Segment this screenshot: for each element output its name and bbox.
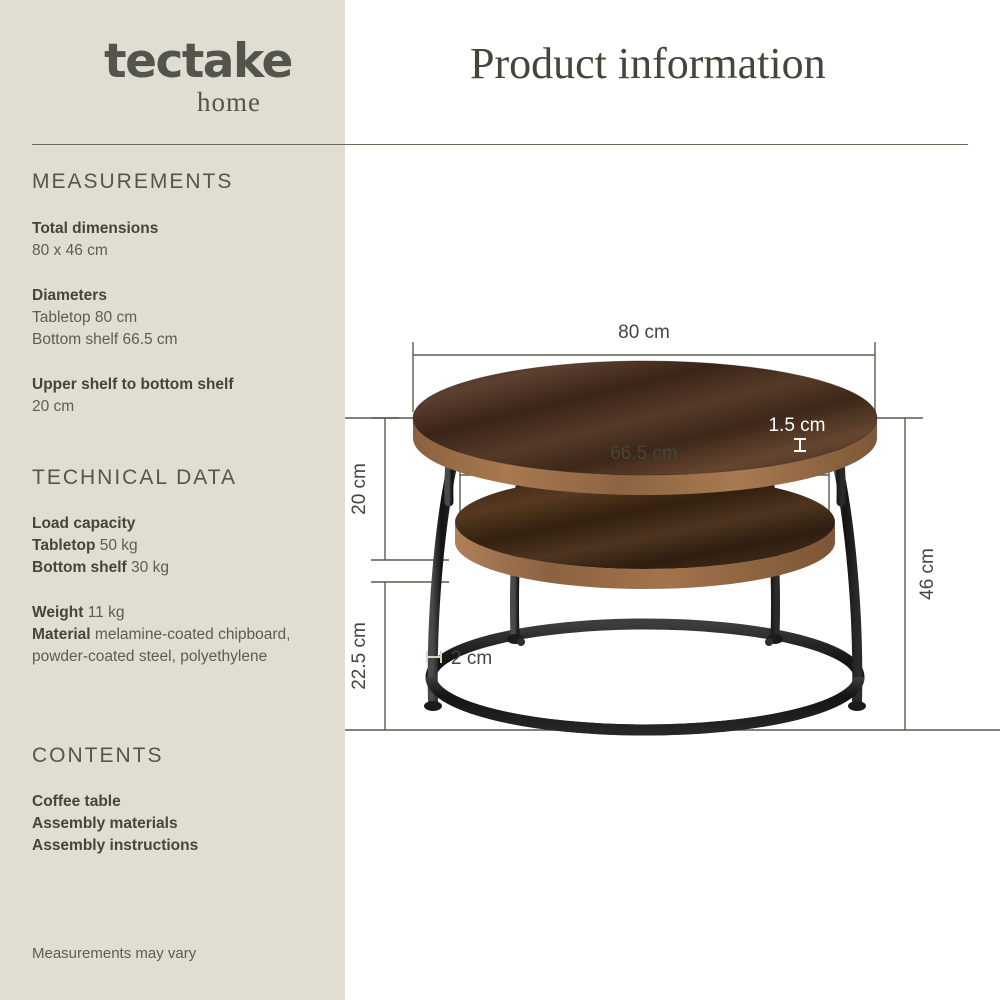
sidebar: tectake home MEASUREMENTS Total dimensio…: [0, 0, 345, 1000]
contents-list: Coffee table Assembly materials Assembly…: [32, 791, 332, 857]
product-diagram: 80 cm 1.5 cm 66.5 cm 20 cm 22.5 cm 2 cm …: [345, 150, 1000, 850]
measurement-total-dimensions: Total dimensions 80 x 46 cm: [32, 218, 332, 262]
dim-label-tube-diameter: 2 cm: [451, 648, 492, 669]
dim-label-width: 80 cm: [618, 322, 670, 343]
weight-value: 11 kg: [88, 604, 125, 621]
material-label: Material: [32, 626, 91, 643]
contents-item: Assembly instructions: [32, 835, 332, 857]
shelf-gap-value: 20 cm: [32, 396, 332, 418]
base-ring-front: [431, 677, 859, 730]
brand-logo: tectake home: [78, 38, 318, 116]
product-information-sheet: tectake home MEASUREMENTS Total dimensio…: [0, 0, 1000, 1000]
header-divider: [32, 144, 968, 145]
technical-load-capacity: Load capacity Tabletop 50 kg Bottom shel…: [32, 513, 332, 579]
dim-label-base-height: 22.5 cm: [349, 622, 370, 690]
load-capacity-label: Load capacity: [32, 513, 332, 535]
measurement-diameters: Diameters Tabletop 80 cm Bottom shelf 66…: [32, 285, 332, 351]
technical-weight-material: Weight 11 kg Material melamine-coated ch…: [32, 602, 332, 668]
shelf-gap-label: Upper shelf to bottom shelf: [32, 374, 332, 396]
load-capacity-tabletop-value: 50 kg: [100, 537, 138, 554]
measurements-disclaimer: Measurements may vary: [32, 945, 196, 962]
load-capacity-bottom-shelf-value: 30 kg: [131, 559, 169, 576]
total-dimensions-label: Total dimensions: [32, 218, 332, 240]
diameters-tabletop-value: Tabletop 80 cm: [32, 307, 332, 329]
load-capacity-tabletop: Tabletop 50 kg: [32, 535, 332, 557]
load-capacity-bottom-shelf: Bottom shelf 30 kg: [32, 557, 332, 579]
contents-item: Assembly materials: [32, 813, 332, 835]
total-dimensions-value: 80 x 46 cm: [32, 240, 332, 262]
section-heading-technical-data: TECHNICAL DATA: [32, 466, 237, 490]
load-capacity-bottom-shelf-label: Bottom shelf: [32, 559, 127, 576]
dim-label-shelf-diameter: 66.5 cm: [610, 443, 678, 464]
dim-label-shelf-gap: 20 cm: [349, 463, 370, 515]
page-title: Product information: [470, 40, 980, 88]
measurement-shelf-gap: Upper shelf to bottom shelf 20 cm: [32, 374, 332, 418]
dim-label-tabletop-thickness: 1.5 cm: [768, 415, 825, 436]
contents-item: Coffee table: [32, 791, 332, 813]
material-row: Material melamine-coated chipboard, powd…: [32, 624, 332, 668]
dim-label-total-height: 46 cm: [917, 548, 938, 600]
brand-logo-wordmark: tectake: [78, 38, 318, 85]
load-capacity-tabletop-label: Tabletop: [32, 537, 95, 554]
diameters-bottom-shelf-value: Bottom shelf 66.5 cm: [32, 329, 332, 351]
section-heading-contents: CONTENTS: [32, 744, 164, 768]
brand-logo-subtitle: home: [78, 89, 318, 116]
weight-row: Weight 11 kg: [32, 602, 332, 624]
section-heading-measurements: MEASUREMENTS: [32, 170, 233, 194]
base-ring-screws: [517, 638, 773, 646]
weight-label: Weight: [32, 604, 83, 621]
diameters-label: Diameters: [32, 285, 332, 307]
